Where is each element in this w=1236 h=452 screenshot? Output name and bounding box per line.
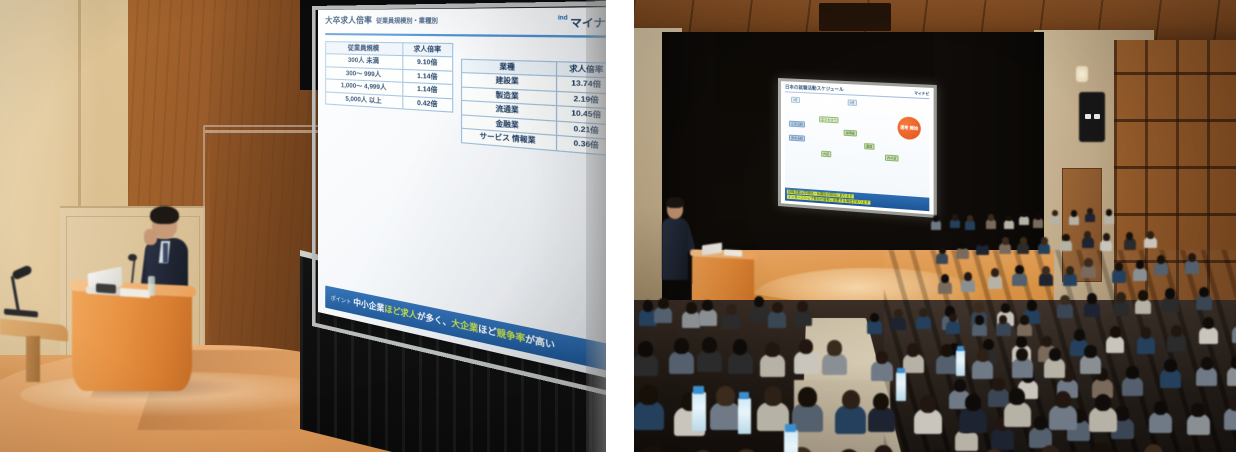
- audience-torso: [1080, 355, 1101, 374]
- audience-head: [1171, 325, 1182, 337]
- audience-torso: [867, 320, 882, 334]
- audience-head: [827, 340, 841, 355]
- slide-title: 大卒求人倍率: [325, 16, 372, 26]
- slide-subtitle: 従業員規模別・業種別: [376, 15, 438, 25]
- audience-head: [1084, 258, 1092, 267]
- audience-torso: [1144, 237, 1156, 248]
- audience-torso: [931, 220, 941, 229]
- audience-torso: [891, 317, 906, 331]
- audience-torso: [972, 360, 993, 379]
- audience-torso: [682, 311, 700, 328]
- audience-head: [1126, 366, 1138, 379]
- audience-torso: [1012, 358, 1033, 377]
- audience-head: [772, 302, 783, 313]
- banner-highlight-3: 競争率: [497, 328, 526, 344]
- audience-head: [1106, 209, 1112, 215]
- audience-head: [764, 386, 782, 406]
- audience-head: [894, 309, 903, 318]
- audience-torso: [1160, 369, 1181, 388]
- water-bottle: [692, 392, 706, 431]
- bottle-cap-icon: [693, 386, 704, 394]
- audience-head: [933, 215, 939, 221]
- audience-torso: [988, 275, 1002, 288]
- audience-head: [1084, 345, 1096, 358]
- slide-flow-diagram: 3月 6月 広報活動 選考活動 エントリー 説明会 面接 内々定 内定 選考 開…: [785, 92, 929, 198]
- audience-torso: [1135, 299, 1152, 314]
- audience-head: [876, 351, 888, 364]
- banner-text-1: 中小企業: [353, 297, 384, 313]
- audience-torso: [1149, 412, 1172, 433]
- audience-head: [674, 338, 688, 353]
- audience-torso: [1049, 405, 1076, 430]
- audience-torso: [1017, 323, 1032, 337]
- audience-torso: [654, 307, 672, 324]
- audience-head: [1034, 416, 1047, 430]
- audience-torso: [1017, 243, 1029, 254]
- audience-head: [1203, 317, 1214, 329]
- audience-torso: [634, 354, 658, 377]
- audience-head: [1126, 232, 1133, 240]
- banner-highlight-2: 大企業: [451, 318, 478, 334]
- audience-head: [1084, 231, 1091, 239]
- audience-head: [1201, 357, 1213, 370]
- audience-head: [1020, 315, 1029, 324]
- audience-torso: [1112, 269, 1126, 282]
- flow-node: 説明会: [844, 130, 857, 137]
- audience-head: [979, 238, 986, 246]
- audience-torso: [1154, 262, 1168, 275]
- audience-torso: [1012, 273, 1026, 286]
- audience-torso: [1004, 402, 1031, 427]
- banner-text-2: が多く、: [417, 311, 451, 328]
- projection-screen-right: 日本の就職活動スケジュール マイナビ 3月 6月 広報活動 選考活動 エントリー…: [778, 78, 937, 218]
- door-rail: [205, 130, 325, 133]
- bottle-cap-icon: [739, 392, 749, 399]
- audience-torso: [1019, 216, 1029, 225]
- audience-head: [1188, 253, 1196, 262]
- presenter-hand: [144, 229, 157, 245]
- audience-head: [907, 343, 919, 356]
- audience-head: [1002, 237, 1009, 245]
- audience-torso: [950, 219, 960, 228]
- audience-torso: [722, 313, 740, 330]
- audience-head: [1110, 326, 1121, 338]
- audience-torso: [1122, 377, 1143, 396]
- audience-head: [1141, 327, 1152, 339]
- bottle-cap-icon: [785, 424, 796, 432]
- audience-head: [733, 339, 747, 354]
- presenter-tie: [163, 243, 168, 263]
- audience-head: [1138, 290, 1148, 300]
- table-by-industry: 業種 求人倍率 建設業 13.74倍 製造業 2.19倍: [460, 59, 606, 157]
- side-table-leg: [26, 336, 40, 382]
- flow-node: 内々定: [885, 155, 899, 162]
- audience-torso: [972, 323, 987, 337]
- audience-head: [992, 378, 1004, 391]
- logo-mark: ind: [558, 15, 568, 22]
- audience-torso: [669, 351, 694, 374]
- wall-speaker-cabinet: [1079, 92, 1105, 142]
- podium-microphone-icon: [128, 254, 137, 261]
- audience-torso: [1113, 301, 1130, 316]
- audience-head: [977, 349, 989, 362]
- speaker-indicator-icon: [1085, 114, 1091, 119]
- audience-torso: [760, 354, 785, 377]
- audience-torso: [1196, 295, 1213, 310]
- audience-torso: [1124, 238, 1136, 249]
- audience-head: [1199, 287, 1209, 297]
- table-by-company-size: 従業員規模 求人倍率 300人 未満 9.10倍 300～ 999人 1.14倍: [325, 41, 452, 113]
- audience-head: [975, 315, 984, 324]
- audience-torso: [1039, 273, 1053, 286]
- audience-head: [658, 298, 669, 309]
- audience-torso: [959, 408, 986, 433]
- presenter-hair: [150, 206, 179, 224]
- slide-header: 大卒求人倍率 従業員規模別・業種別 indマイナビ: [325, 15, 606, 38]
- audience-head: [954, 379, 966, 392]
- audience-head: [959, 242, 966, 250]
- audience-head: [798, 387, 816, 407]
- audience-torso: [996, 322, 1011, 336]
- photo-left-edge-shade: [586, 0, 606, 452]
- two-photo-figure: 大卒求人倍率 従業員規模別・業種別 indマイナビ 従業員規模 求人倍率: [0, 0, 1236, 452]
- audience-head: [991, 268, 999, 277]
- audience-head: [964, 272, 972, 281]
- audience-head: [842, 390, 860, 410]
- audience-head: [1042, 266, 1050, 275]
- speaker-podium: [72, 286, 192, 391]
- audience-head: [919, 308, 928, 317]
- audience-torso: [1038, 243, 1050, 254]
- audience-torso: [999, 243, 1011, 254]
- audience-torso: [794, 351, 819, 374]
- audience-head: [643, 300, 654, 311]
- audience-head: [870, 313, 879, 322]
- audience-torso: [955, 430, 978, 451]
- audience-torso: [1060, 240, 1072, 251]
- audience-torso: [868, 407, 895, 432]
- audience-head: [1095, 394, 1111, 411]
- audience-torso: [1187, 414, 1210, 435]
- audience-torso: [1084, 302, 1101, 317]
- flow-node: 3月: [791, 97, 800, 103]
- audience-head: [1164, 359, 1176, 372]
- audience-head: [1052, 210, 1058, 216]
- audience-torso: [936, 253, 948, 264]
- audience-head: [639, 385, 657, 405]
- flow-node: エントリー: [819, 116, 838, 123]
- audience-head: [1020, 237, 1027, 245]
- audience-torso: [1063, 273, 1077, 286]
- audience-torso: [792, 403, 823, 432]
- water-bottle: [784, 430, 798, 452]
- flow-node: 面接: [864, 143, 874, 150]
- audience-torso: [1167, 334, 1186, 351]
- audience-head: [1165, 288, 1175, 298]
- water-bottle: [956, 350, 965, 376]
- audience-torso: [710, 402, 741, 431]
- audience-torso: [1069, 215, 1079, 224]
- wall-light-fixture: [1076, 66, 1088, 82]
- audience-torso: [1082, 237, 1094, 248]
- audience-head: [1016, 348, 1028, 361]
- audience-head: [1035, 213, 1041, 219]
- audience-torso: [1227, 367, 1236, 386]
- audience-torso: [938, 281, 952, 294]
- audience-torso: [946, 321, 961, 335]
- audience-head: [1001, 303, 1011, 313]
- banner-prefix: ポイント: [331, 296, 352, 307]
- audience-head: [1027, 300, 1037, 310]
- audience-torso: [757, 402, 788, 431]
- audience-head: [974, 302, 984, 312]
- selection-start-badge: 選考 開始: [898, 116, 921, 140]
- flow-node: 広報活動: [789, 121, 805, 128]
- flow-node: 選考活動: [789, 135, 805, 142]
- audience-head: [967, 215, 973, 221]
- audience-torso: [936, 355, 957, 374]
- water-bottle: [738, 398, 751, 434]
- banner-highlight-1: ほど求人: [384, 304, 417, 321]
- row-label: 5,000人 以上: [326, 92, 403, 110]
- table-left-wrap: 従業員規模 求人倍率 300人 未満 9.10倍 300～ 999人 1.14倍: [325, 41, 452, 307]
- audience-torso: [914, 409, 941, 434]
- audience-head: [1229, 397, 1236, 411]
- water-bottle: [148, 276, 155, 296]
- audience-head: [1021, 211, 1027, 217]
- flow-node: 6月: [848, 99, 857, 106]
- audience-torso: [916, 316, 931, 330]
- audience-torso: [986, 219, 996, 228]
- audience-torso: [697, 350, 722, 373]
- audience-head: [1087, 293, 1097, 303]
- audience-torso: [1196, 367, 1217, 386]
- photo-left-speaker-at-podium: 大卒求人倍率 従業員規模別・業種別 indマイナビ 従業員規模 求人倍率: [0, 0, 606, 452]
- audience-torso: [750, 305, 768, 322]
- audience-torso: [956, 248, 968, 259]
- water-bottle: [896, 372, 906, 401]
- bottle-cap-icon: [897, 368, 905, 374]
- audience-head: [939, 247, 946, 255]
- audience-torso: [1004, 220, 1014, 229]
- podium-dark-object: [96, 283, 116, 293]
- audience-torso: [965, 220, 975, 229]
- audience-head: [1062, 234, 1069, 242]
- ceiling-vent: [819, 3, 891, 31]
- audience-head: [1074, 329, 1085, 341]
- presenter-hair: [666, 197, 684, 208]
- slide-content: 日本の就職活動スケジュール マイナビ 3月 6月 広報活動 選考活動 エントリー…: [781, 81, 934, 215]
- bottle-cap-icon: [957, 346, 964, 351]
- audience-head: [1049, 348, 1061, 361]
- audience-torso: [794, 310, 812, 327]
- audience-torso: [1133, 268, 1147, 281]
- audience-torso: [1199, 327, 1218, 344]
- audience-torso: [1224, 408, 1236, 429]
- audience-head: [1147, 231, 1154, 239]
- audience-torso: [1100, 240, 1112, 251]
- audience-torso: [1085, 213, 1095, 222]
- audience-torso: [1104, 214, 1114, 223]
- audience-torso: [1050, 215, 1060, 224]
- audience-head: [765, 342, 779, 357]
- audience-head: [1157, 255, 1165, 264]
- audience-torso: [1106, 336, 1125, 353]
- audience-head: [941, 344, 953, 357]
- audience-torso: [634, 401, 664, 430]
- audience-torso: [1137, 336, 1156, 353]
- mynavi-logo: マイナビ: [914, 91, 929, 97]
- audience-head: [1115, 406, 1128, 420]
- audience-head: [1154, 401, 1167, 415]
- audience-head: [965, 394, 981, 411]
- audience-head: [1016, 336, 1027, 348]
- audience-head: [1009, 388, 1025, 405]
- col-header-ratio: 求人倍率: [403, 43, 452, 58]
- audience-head: [1115, 262, 1123, 271]
- audience-torso: [1162, 297, 1179, 312]
- audience-head: [799, 339, 813, 354]
- audience-head: [638, 341, 652, 356]
- photo-right-auditorium: 日本の就職活動スケジュール マイナビ 3月 6月 広報活動 選考活動 エントリー…: [634, 0, 1236, 452]
- audience-head: [726, 304, 737, 315]
- audience-head: [1116, 292, 1126, 302]
- presenter-body: [662, 218, 688, 280]
- audience-head: [941, 274, 949, 283]
- audience-torso: [1185, 260, 1199, 273]
- audience-torso: [1033, 218, 1043, 227]
- audience-head: [716, 386, 734, 406]
- audience-torso: [699, 309, 717, 326]
- audience-head: [1042, 336, 1053, 348]
- audience-torso: [822, 353, 847, 376]
- podium-papers: [724, 249, 742, 256]
- audience-head: [920, 395, 936, 412]
- audience-head: [1071, 210, 1077, 216]
- audience-head: [999, 315, 1008, 324]
- banner-text-4: が高い: [525, 334, 555, 351]
- audience-head: [873, 393, 889, 410]
- audience-torso: [903, 354, 924, 373]
- audience-head: [1060, 295, 1070, 305]
- audience-head: [1055, 391, 1071, 408]
- audience-head: [702, 300, 713, 311]
- audience-torso: [871, 361, 892, 380]
- audience-head: [1191, 403, 1204, 417]
- banner-text-3: ほど: [478, 324, 496, 338]
- audience-torso: [1232, 326, 1236, 343]
- flow-node: 内定: [821, 151, 831, 158]
- table-right-wrap: 業種 求人倍率 建設業 13.74倍 製造業 2.19倍: [460, 43, 606, 341]
- speaker-indicator-icon: [1094, 114, 1100, 119]
- audience-torso: [991, 428, 1014, 449]
- audience-head: [988, 214, 994, 220]
- audience-head: [686, 302, 697, 313]
- audience-torso: [835, 405, 866, 434]
- audience-head: [1015, 265, 1023, 274]
- audience-head: [1006, 215, 1012, 221]
- audience-torso: [1044, 358, 1065, 377]
- audience-torso: [728, 352, 753, 375]
- audience-torso: [1081, 265, 1095, 278]
- audience-head: [702, 337, 716, 352]
- audience-head: [1066, 266, 1074, 275]
- audience-head: [1231, 356, 1236, 369]
- audience-head: [1041, 237, 1048, 245]
- audience-head: [797, 301, 808, 312]
- audience-torso: [976, 244, 988, 255]
- audience-torso: [1057, 303, 1074, 318]
- audience-torso: [1089, 407, 1116, 432]
- audience-torso: [961, 279, 975, 292]
- audience-head: [1103, 233, 1110, 241]
- row-value: 0.42倍: [403, 96, 452, 112]
- audience-head: [952, 214, 958, 220]
- audience-torso: [768, 311, 786, 328]
